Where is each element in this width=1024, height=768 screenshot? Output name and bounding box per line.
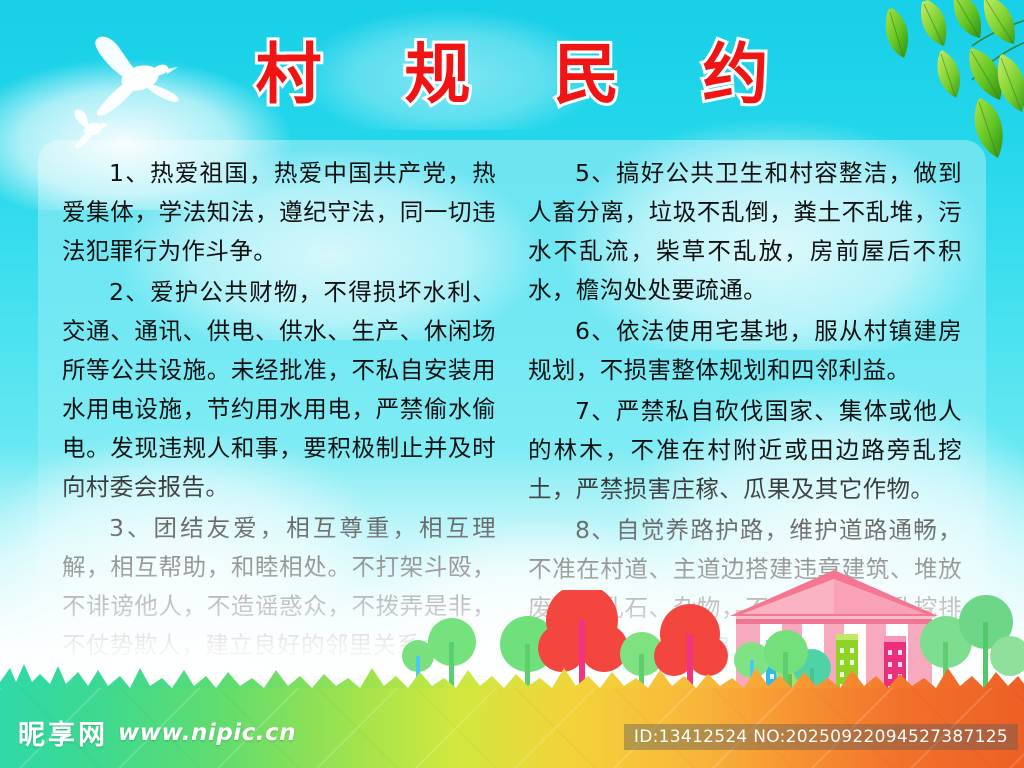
ground-band — [0, 688, 1024, 768]
rule-item: 5、搞好公共卫生和村容整洁，做到人畜分离，垃圾不乱倒，粪土不乱堆，污水不乱流，柴… — [528, 154, 962, 310]
rule-item: 7、严禁私自砍伐国家、集体或他人的林木，不准在村附近或田边路旁乱挖土，严禁损害庄… — [528, 392, 962, 509]
rule-item: 6、依法使用宅基地，服从村镇建房规划，不损害整体规划和四邻利益。 — [528, 312, 962, 390]
ground-texture — [0, 688, 1024, 768]
rule-item: 1、热爱祖国，热爱中国共产党，热爱集体，学法知法，遵纪守法，同一切违法犯罪行为作… — [62, 154, 496, 271]
page-title: 村 规 民 约 — [0, 42, 1024, 108]
poster-canvas: 村 规 民 约 1、热爱祖国，热爱中国共产党，热爱集体，学法知法，遵纪守法，同一… — [0, 0, 1024, 768]
rule-item: 2、爱护公共财物，不得损坏水利、交通、通讯、供电、供水、生产、休闲场所等公共设施… — [62, 273, 496, 507]
